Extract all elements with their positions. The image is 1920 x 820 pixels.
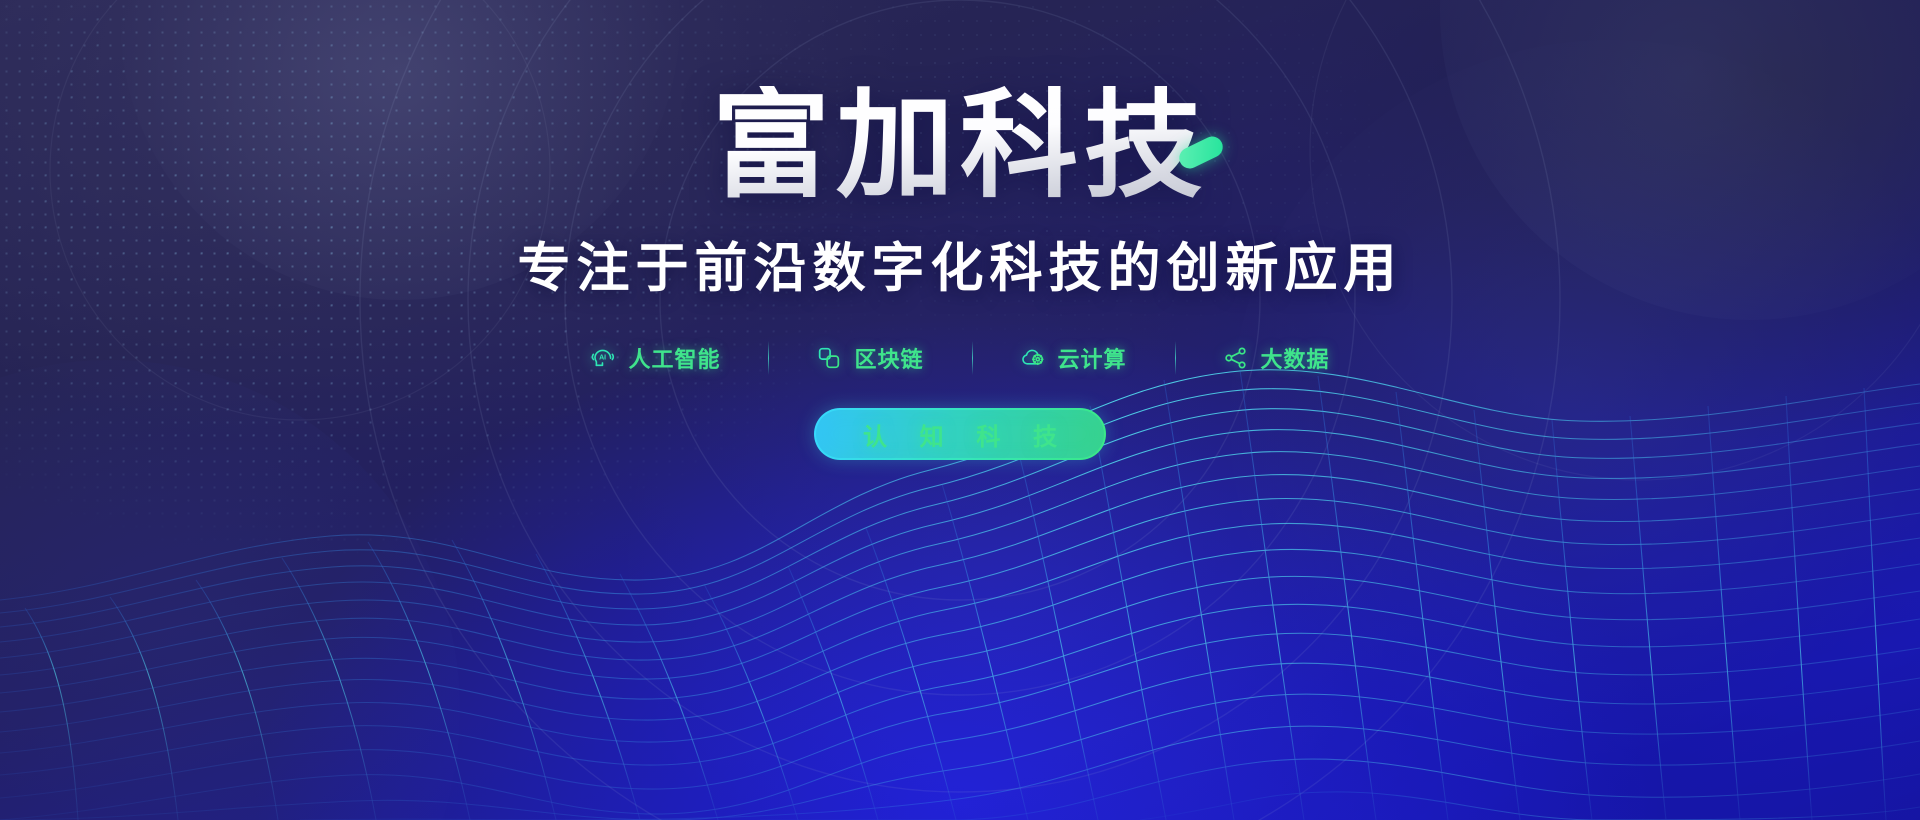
share-nodes-icon (1223, 345, 1249, 371)
hero-banner: 富加科技 专注于前沿数字化科技的创新应用 AI 人工智能 (0, 0, 1920, 820)
feature-tag-list: AI 人工智能 区块链 (542, 342, 1377, 374)
ai-head-icon: AI (590, 345, 616, 371)
feature-tag-cloud[interactable]: 云计算 (972, 342, 1175, 374)
feature-tag-label: 区块链 (854, 342, 923, 374)
svg-text:AI: AI (600, 354, 607, 361)
cognitive-tech-button[interactable]: 认 知 科 技 (814, 408, 1106, 460)
blockchain-icon (816, 345, 842, 371)
cloud-gear-icon (1020, 345, 1046, 371)
feature-tag-label: 人工智能 (628, 342, 720, 374)
hero-content: 富加科技 专注于前沿数字化科技的创新应用 AI 人工智能 (0, 0, 1920, 820)
feature-tag-ai[interactable]: AI 人工智能 (542, 342, 768, 374)
feature-tag-label: 云计算 (1058, 342, 1127, 374)
feature-tag-label: 大数据 (1261, 342, 1330, 374)
feature-tag-blockchain[interactable]: 区块链 (768, 342, 971, 374)
feature-tag-bigdata[interactable]: 大数据 (1175, 342, 1378, 374)
brand-logo-text: 富加科技 (712, 86, 1208, 206)
hero-tagline: 专注于前沿数字化科技的创新应用 (518, 238, 1403, 300)
brand-logo: 富加科技 (712, 86, 1208, 216)
